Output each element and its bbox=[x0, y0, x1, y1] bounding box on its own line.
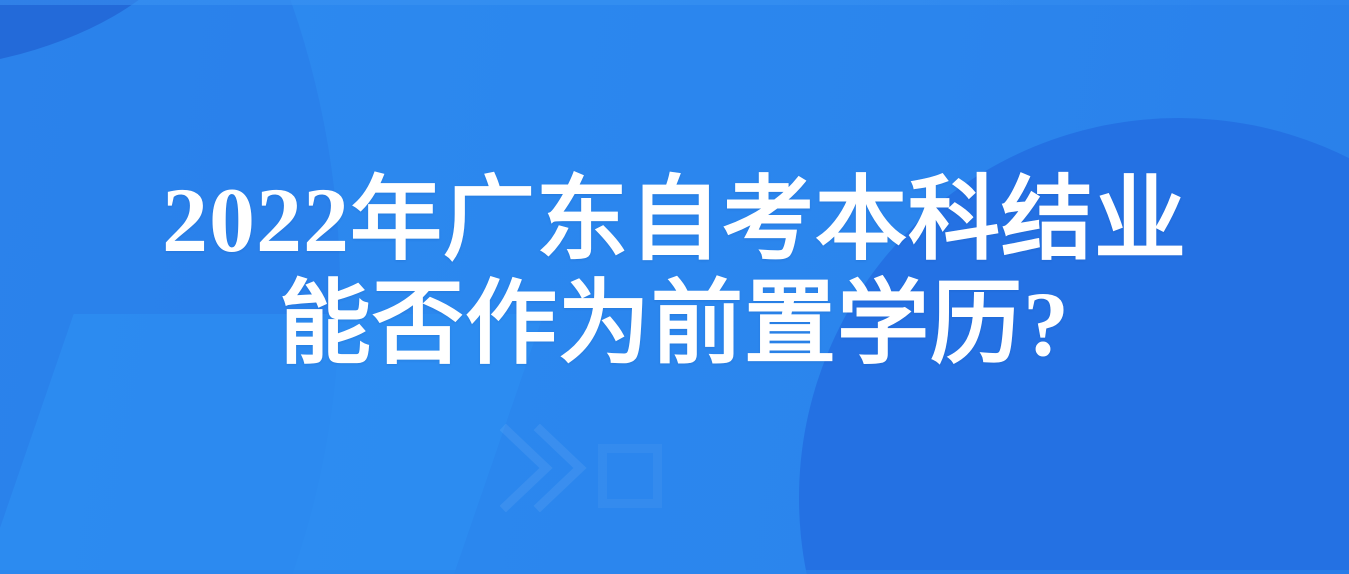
background-top-strip bbox=[0, 0, 1349, 5]
headline-line-2: 能否作为前置学历? bbox=[30, 272, 1319, 376]
banner: 2022年广东自考本科结业 能否作为前置学历? bbox=[0, 0, 1349, 574]
headline-line-1: 2022年广东自考本科结业 bbox=[30, 168, 1319, 272]
page-title: 2022年广东自考本科结业 能否作为前置学历? bbox=[0, 168, 1349, 376]
background-bottom-strip bbox=[0, 570, 1349, 574]
